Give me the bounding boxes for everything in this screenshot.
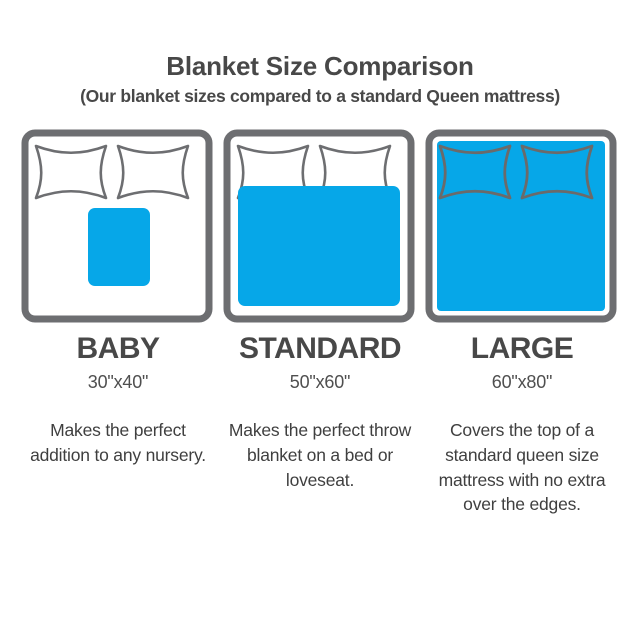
bed-illustration-baby: [20, 128, 216, 324]
page-title: Blanket Size Comparison: [0, 52, 640, 81]
bed-diagram-standard-svg: [222, 128, 418, 324]
bed-illustration-large: [424, 128, 620, 324]
blanket-overlay-baby: [88, 208, 150, 286]
size-description-large: Covers the top of a standard queen size …: [429, 418, 615, 517]
pillow-right-icon: [118, 146, 188, 198]
size-name-standard: STANDARD: [239, 334, 401, 364]
size-column-standard: STANDARD 50"x60" Makes the perfect throw…: [220, 128, 420, 517]
size-column-baby: BABY 30"x40" Makes the perfect addition …: [18, 128, 218, 517]
page-subtitle: (Our blanket sizes compared to a standar…: [0, 87, 640, 106]
blanket-overlay-standard: [238, 186, 400, 306]
size-name-baby: BABY: [76, 334, 159, 364]
pillow-left-icon: [36, 146, 106, 198]
size-column-large: LARGE 60"x80" Covers the top of a standa…: [422, 128, 622, 517]
size-description-baby: Makes the perfect addition to any nurser…: [25, 418, 211, 468]
size-dimensions-standard: 50"x60": [290, 373, 350, 391]
blanket-overlay-large: [437, 141, 605, 311]
bed-diagram-baby-svg: [20, 128, 216, 324]
bed-diagram-large-svg: [424, 128, 620, 324]
page-header: Blanket Size Comparison (Our blanket siz…: [0, 0, 640, 106]
size-dimensions-baby: 30"x40": [88, 373, 148, 391]
bed-illustration-standard: [222, 128, 418, 324]
size-name-large: LARGE: [471, 334, 574, 364]
size-comparison-columns: BABY 30"x40" Makes the perfect addition …: [0, 128, 640, 517]
size-dimensions-large: 60"x80": [492, 373, 552, 391]
size-description-standard: Makes the perfect throw blanket on a bed…: [227, 418, 413, 493]
